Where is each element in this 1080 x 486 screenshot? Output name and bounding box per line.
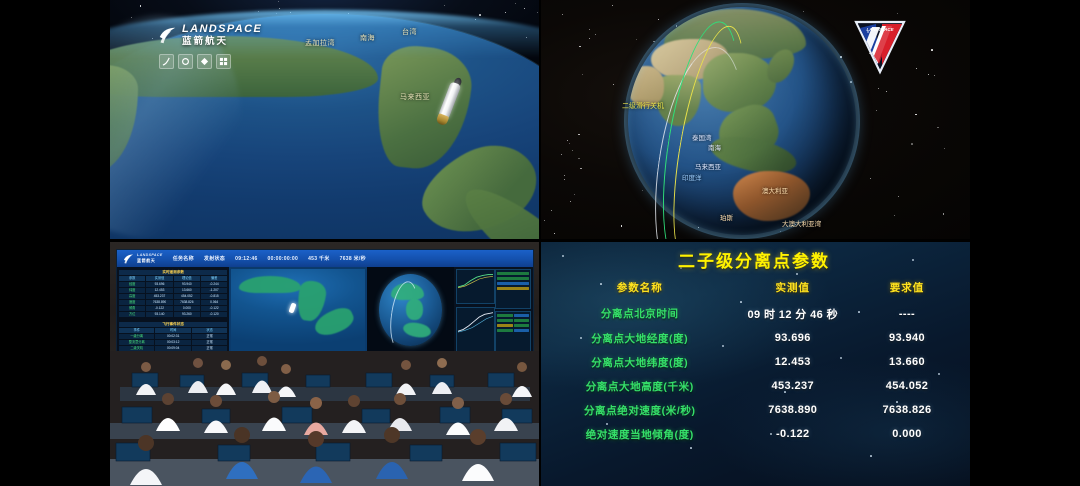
star (943, 213, 945, 215)
letterbox-left (0, 0, 110, 486)
altitude-sparkline (458, 271, 494, 289)
wall-map (231, 269, 364, 353)
param-name: 分离点大地纬度(度) (550, 350, 730, 374)
star (840, 56, 842, 58)
parameters-content: 二子级分离点参数 参数名称 实测值 要求值 分离点北京时间 09 时 12 分 … (540, 241, 970, 486)
status-tag (497, 314, 512, 317)
star (580, 168, 582, 170)
param-measured: -0.122 (730, 422, 856, 446)
globe-label: 南海 (708, 142, 721, 152)
landspace-mark-icon (158, 27, 177, 44)
mini-cell: 12.453 (146, 288, 172, 293)
star (479, 14, 481, 16)
star (636, 39, 637, 40)
globe-trajectory-view: 二级滑行关机 泰国湾 南海 马来西亚 印度洋 澳大利亚 珀斯 大澳大利亚湾 LA… (540, 0, 970, 240)
mini-cell: 13.660 (174, 288, 200, 293)
telemetry-table-1: 实时遥测参数 参数 实测值 理论值 偏差 经度 93.696 93.940 -0… (119, 270, 227, 317)
altitude-curve-chart (456, 269, 496, 304)
status-tag (497, 277, 529, 280)
star (915, 114, 917, 116)
star (567, 140, 568, 141)
param-measured: 09 时 12 分 46 秒 (730, 301, 856, 326)
mini-row: 经度 93.696 93.940 -0.244 (119, 282, 227, 287)
attitude-status-panel (495, 269, 531, 309)
star (937, 127, 939, 129)
mini-table-title: 飞行事件状态 (119, 322, 227, 327)
star (589, 29, 590, 30)
mini-cell: 454.052 (174, 294, 200, 299)
param-required: 13.660 (856, 350, 958, 374)
star (279, 8, 280, 9)
star (551, 210, 552, 211)
circle-icon (181, 57, 190, 66)
star (931, 49, 933, 51)
status-tag (514, 319, 529, 322)
status-tag (497, 272, 529, 275)
status-tag (497, 329, 512, 332)
viewer-hud: LANDSPACE 蓝箭航天 (158, 24, 262, 69)
wall-chart-panel (454, 267, 533, 355)
param-name: 分离点大地高度(千米) (550, 374, 730, 398)
star (579, 46, 581, 48)
mini-cell: 一级分离 (119, 334, 154, 339)
star (928, 74, 929, 75)
star (562, 14, 563, 15)
table-row: 分离点大地纬度(度) 12.453 13.660 (550, 350, 958, 374)
video-wall-body: 实时遥测参数 参数 实测值 理论值 偏差 经度 93.696 93.940 -0… (117, 267, 533, 355)
star (897, 13, 898, 14)
landspace-logo: LANDSPACE 蓝箭航天 (158, 24, 262, 47)
mini-header: 参数 (119, 276, 145, 281)
brand-cn: 蓝箭航天 (182, 37, 262, 47)
mini-cell: -0.122 (201, 306, 227, 311)
star (569, 143, 570, 144)
header-param-name: 参数名称 (550, 276, 730, 301)
mini-header: 理论值 (174, 276, 200, 281)
param-required: 0.000 (856, 422, 958, 446)
mini-cell: -0.815 (201, 294, 227, 299)
mini-cell: 7638.890 (146, 300, 172, 305)
map-label: 南海 (360, 33, 375, 43)
mini-cell: 速度 (119, 300, 145, 305)
wall-map-rocket-marker (288, 302, 296, 313)
star (621, 225, 623, 227)
wall-header-item: 发射状态 (204, 255, 225, 262)
star (444, 5, 445, 6)
mini-header: 实测值 (146, 276, 172, 281)
map-label: 孟加拉湾 (305, 38, 335, 48)
globe-label: 马来西亚 (695, 161, 721, 171)
star (278, 1, 279, 2)
star (898, 196, 899, 197)
mini-cell: 高度 (119, 294, 145, 299)
star (561, 154, 562, 155)
star (894, 215, 895, 216)
star (505, 12, 506, 13)
engine-status-panel (495, 311, 531, 353)
param-name: 分离点大地经度(度) (550, 326, 730, 350)
table-header-row: 参数名称 实测值 要求值 (550, 276, 958, 301)
param-name: 绝对速度当地倾角(度) (550, 422, 730, 446)
mini-cell: 整流罩分离 (119, 340, 154, 345)
orbit-tool-button[interactable] (178, 54, 193, 69)
mission-patch: LANDSPACE (852, 18, 908, 76)
star (564, 179, 565, 180)
wall-landspace-logo: LANDSPACE 蓝箭航天 (123, 254, 163, 264)
quadrant-divider-vertical (539, 0, 541, 486)
star (578, 134, 580, 136)
video-wall: LANDSPACE 蓝箭航天 任务名称 发射状态 09:12:46 00:00:… (116, 249, 534, 354)
velocity-curve-chart (456, 307, 496, 353)
mini-row: 整流罩分离 00:03:12 正常 (119, 340, 227, 345)
status-tag (497, 287, 529, 290)
status-tag (514, 314, 529, 317)
param-measured: 12.453 (730, 350, 856, 374)
star (554, 233, 555, 234)
mini-row: 高度 453.237 454.052 -0.815 (119, 294, 227, 299)
star (572, 150, 573, 151)
status-tag (514, 324, 529, 327)
wall-globe-display (367, 267, 454, 355)
diamond-icon (200, 57, 209, 66)
landmass-indochina (372, 42, 475, 173)
status-tag (497, 319, 512, 322)
wall-header-item: 453 千米 (308, 255, 330, 262)
mini-cell: 倾角 (119, 306, 145, 311)
star (570, 201, 571, 202)
star (916, 68, 917, 69)
wall-header-item: 7638 米/秒 (340, 255, 366, 262)
mini-cell: 93.140 (146, 312, 172, 317)
star (850, 81, 852, 83)
video-wall-header: LANDSPACE 蓝箭航天 任务名称 发射状态 09:12:46 00:00:… (117, 250, 533, 267)
hud-toolbar[interactable] (159, 54, 262, 69)
star (564, 175, 565, 176)
param-name: 分离点绝对速度(米/秒) (550, 398, 730, 422)
mini-cell: 0.064 (201, 300, 227, 305)
landspace-mark-icon-small (123, 254, 134, 264)
mini-cell: 453.237 (146, 294, 172, 299)
trajectory-event-label: 二级滑行关机 (622, 101, 664, 111)
star (944, 148, 945, 149)
param-required: 7638.826 (856, 398, 958, 422)
star (140, 5, 142, 7)
header-measured: 实测值 (730, 276, 856, 301)
mini-cell: -1.207 (201, 288, 227, 293)
mini-header: 偏差 (201, 276, 227, 281)
mini-cell: 0.000 (174, 306, 200, 311)
mini-row: 方位 93.140 93.260 -0.120 (119, 312, 227, 317)
star (934, 75, 935, 76)
mini-cell: 7638.826 (174, 300, 200, 305)
separation-parameters-table: 参数名称 实测值 要求值 分离点北京时间 09 时 12 分 46 秒 ----… (550, 276, 958, 446)
mini-row: 倾角 -0.122 0.000 -0.122 (119, 306, 227, 311)
table-row: 绝对速度当地倾角(度) -0.122 0.000 (550, 422, 958, 446)
star (870, 178, 871, 179)
marker-tool-button[interactable] (197, 54, 212, 69)
table-row: 分离点绝对速度(米/秒) 7638.890 7638.826 (550, 398, 958, 422)
mini-row: 纬度 12.453 13.660 -1.207 (119, 288, 227, 293)
wall-brand-cn: 蓝箭航天 (137, 259, 163, 263)
mini-cell: 正常 (192, 340, 227, 345)
mini-cell: 纬度 (119, 288, 145, 293)
star (574, 194, 575, 195)
star (886, 91, 887, 92)
wall-header-item: 09:12:46 (235, 256, 257, 262)
star (524, 8, 525, 9)
grid-tool-button[interactable] (216, 54, 231, 69)
table-row: 分离点北京时间 09 时 12 分 46 秒 ---- (550, 301, 958, 326)
star (612, 5, 613, 6)
velocity-sparkline (458, 309, 494, 332)
status-tag (514, 329, 529, 332)
star (780, 231, 781, 232)
param-measured: 453.237 (730, 374, 856, 398)
mission-control-room: LANDSPACE 蓝箭航天 任务名称 发射状态 09:12:46 00:00:… (110, 241, 540, 486)
globe-label: 泰国湾 (692, 132, 712, 142)
mini-cell: 正常 (192, 334, 227, 339)
brand-en: LANDSPACE (182, 24, 262, 35)
wall-header-item: 00:00:00:00 (268, 256, 299, 262)
star (515, 3, 516, 4)
star (878, 88, 879, 89)
param-measured: 7638.890 (730, 398, 856, 422)
map-label: 马来西亚 (400, 92, 430, 102)
wall-telemetry-tables: 实时遥测参数 参数 实测值 理论值 偏差 经度 93.696 93.940 -0… (117, 267, 229, 355)
mini-cell: 方位 (119, 312, 145, 317)
star (658, 19, 659, 20)
mini-header: 状态 (192, 328, 227, 333)
mini-row: 一级分离 00:02:31 正常 (119, 334, 227, 339)
mini-cell: 00:02:31 (155, 334, 190, 339)
star (803, 11, 804, 12)
globe-label: 大澳大利亚湾 (782, 218, 821, 228)
mini-header-row: 事件 时间 状态 (119, 328, 227, 333)
star (582, 74, 583, 75)
control-room-floor (110, 351, 540, 486)
grid-icon (219, 57, 228, 66)
star (876, 110, 877, 111)
mini-cell: -0.122 (146, 306, 172, 311)
separation-parameters-panel: 二子级分离点参数 参数名称 实测值 要求值 分离点北京时间 09 时 12 分 … (540, 241, 970, 486)
mini-header: 事件 (119, 328, 154, 333)
mini-cell: -0.120 (201, 312, 227, 317)
wall-header-item: 任务名称 (173, 255, 194, 262)
star (911, 143, 913, 145)
star (589, 38, 590, 39)
star (653, 41, 655, 43)
globe-label: 珀斯 (720, 212, 733, 222)
header-required: 要求值 (856, 276, 958, 301)
mini-cell: 93.260 (174, 312, 200, 317)
star (642, 190, 643, 191)
broadcast-screen: 孟加拉湾 南海 台湾 马来西亚 LANDSPACE 蓝箭航天 (0, 0, 1080, 486)
wall-map-display (229, 267, 366, 355)
globe-label: 澳大利亚 (762, 185, 788, 195)
star (578, 158, 580, 160)
star (131, 17, 132, 18)
mini-cell: -0.244 (201, 282, 227, 287)
wall-map-land (239, 276, 300, 293)
table-row: 分离点大地高度(千米) 453.237 454.052 (550, 374, 958, 398)
quadrant-divider-horizontal (110, 239, 970, 242)
star (613, 84, 614, 85)
trajectory-icon (162, 57, 171, 66)
panel-title: 二子级分离点参数 (550, 247, 958, 272)
status-tag (497, 282, 529, 285)
param-required: 454.052 (856, 374, 958, 398)
patch-brand-text: LANDSPACE (867, 27, 895, 32)
onboard-camera-view: 孟加拉湾 南海 台湾 马来西亚 LANDSPACE 蓝箭航天 (110, 0, 540, 240)
mini-cell: 93.696 (146, 282, 172, 287)
trajectory-tool-button[interactable] (159, 54, 174, 69)
globe-label: 印度洋 (682, 172, 702, 182)
param-required: 93.940 (856, 326, 958, 350)
mini-cell: 00:03:12 (155, 340, 190, 345)
star (544, 220, 545, 221)
mini-row: 速度 7638.890 7638.826 0.064 (119, 300, 227, 305)
param-required: ---- (856, 301, 958, 326)
mini-header: 时间 (155, 328, 190, 333)
star (537, 12, 538, 13)
mini-cell: 93.940 (174, 282, 200, 287)
table-row: 分离点大地经度(度) 93.696 93.940 (550, 326, 958, 350)
mini-cell: 经度 (119, 282, 145, 287)
param-name: 分离点北京时间 (550, 301, 730, 326)
param-measured: 93.696 (730, 326, 856, 350)
letterbox-right (970, 0, 1080, 486)
star (595, 34, 596, 35)
status-tag (497, 324, 512, 327)
map-label: 台湾 (402, 27, 417, 37)
mini-header-row: 参数 实测值 理论值 偏差 (119, 276, 227, 281)
mini-table-title: 实时遥测参数 (119, 270, 227, 275)
